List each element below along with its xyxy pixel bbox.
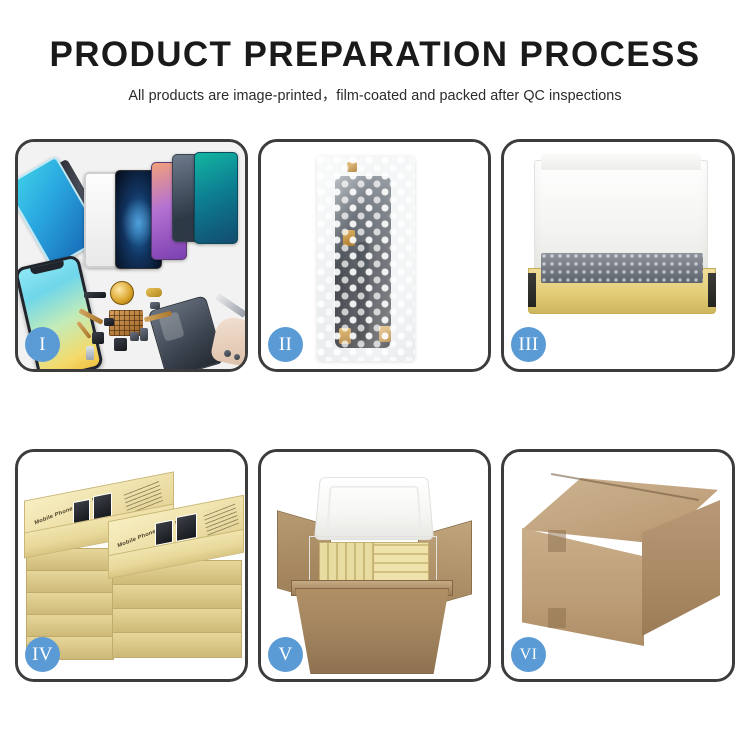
- panel-3-step-badge: III: [511, 327, 546, 362]
- process-panel-6[interactable]: VI: [501, 449, 735, 682]
- page-title: PRODUCT PREPARATION PROCESS: [0, 36, 750, 73]
- panel-4-step-badge: IV: [25, 637, 60, 672]
- panel-5-step-badge: V: [268, 637, 303, 672]
- process-panel-1[interactable]: I: [15, 139, 248, 372]
- panel-2-step-badge: II: [268, 327, 303, 362]
- process-panel-4[interactable]: Mobile Phone Spare Parts Mobile Phone Sp…: [15, 449, 248, 682]
- process-panel-grid: I II III: [15, 139, 735, 682]
- panel-6-step-badge: VI: [511, 637, 546, 672]
- process-panel-3[interactable]: III: [501, 139, 735, 372]
- panel-1-step-badge: I: [25, 327, 60, 362]
- process-panel-2[interactable]: II: [258, 139, 491, 372]
- process-panel-5[interactable]: V: [258, 449, 491, 682]
- page-header: PRODUCT PREPARATION PROCESS All products…: [0, 0, 750, 105]
- page-subtitle: All products are image-printed，film-coat…: [0, 84, 750, 105]
